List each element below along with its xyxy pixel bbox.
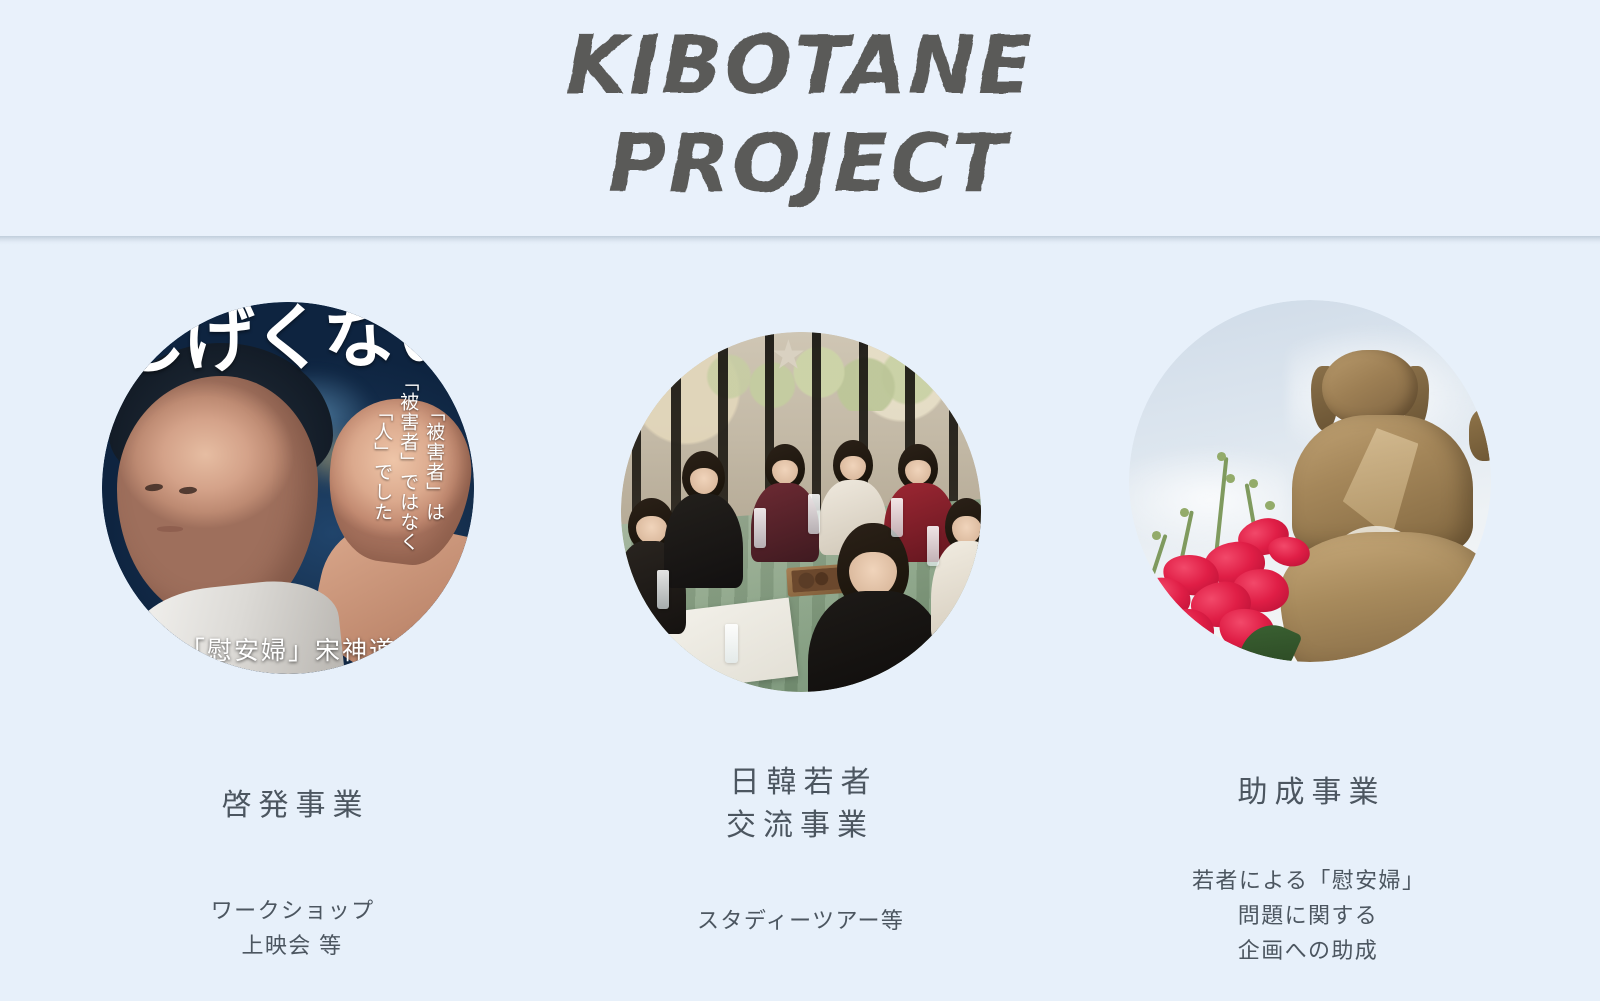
flower-bud	[1249, 479, 1258, 488]
program-cards: しげくない 「被害者」は 「被害者」ではなく 「人」でした 「慰安婦」宋神道 啓…	[0, 236, 1600, 1001]
logo-line-1: KIBOTANE	[566, 19, 1035, 112]
flower-petal	[1266, 534, 1312, 570]
card-subtitle-japan-korea-youth-exchange: スタディーツアー等	[546, 903, 1054, 938]
meeting-artwork	[621, 332, 981, 692]
woman-mouth	[157, 526, 183, 531]
flower-bud	[1265, 501, 1274, 510]
participant-body	[664, 494, 743, 588]
water-bottle	[891, 498, 903, 538]
logo-line-2: PROJECT	[608, 117, 1011, 210]
water-bottle	[927, 526, 939, 566]
water-bottle	[754, 508, 766, 548]
poster-vertical-caption-line: 「被害者」ではなく	[397, 358, 418, 566]
flower-bud	[1226, 474, 1235, 483]
card-title-grants: 助成事業	[1054, 771, 1562, 814]
card-subtitle-grants: 若者による「慰安婦」 問題に関する 企画への助成	[1054, 863, 1562, 968]
card-japan-korea-youth-exchange[interactable]: 日韓若者 交流事業 スタディーツアー等	[546, 236, 1054, 1001]
poster-bottom-caption: 「慰安婦」宋神道	[102, 631, 474, 667]
card-title-japan-korea-youth-exchange: 日韓若者 交流事業	[546, 761, 1054, 847]
statue-head	[1322, 350, 1419, 425]
statue-artwork	[1129, 300, 1491, 662]
card-grants[interactable]: 助成事業 若者による「慰安婦」 問題に関する 企画への助成	[1054, 236, 1562, 1001]
card-title-awareness: 啓発事業	[38, 784, 546, 827]
water-bottle	[725, 624, 737, 664]
statue-of-peace-thumbnail[interactable]	[1129, 300, 1491, 662]
flower-bud	[1152, 531, 1161, 540]
page-root: KIBOTANE PROJECT	[0, 0, 1600, 1001]
card-awareness[interactable]: しげくない 「被害者」は 「被害者」ではなく 「人」でした 「慰安婦」宋神道 啓…	[38, 236, 546, 1001]
water-bottle	[657, 570, 669, 610]
poster-vertical-caption-line: 「被害者」は	[423, 358, 444, 566]
site-header: KIBOTANE PROJECT	[0, 0, 1600, 236]
documentary-film-poster-thumbnail[interactable]: しげくない 「被害者」は 「被害者」ではなく 「人」でした 「慰安婦」宋神道	[102, 302, 474, 674]
card-subtitle-awareness: ワークショップ 上映会 等	[38, 893, 546, 963]
statue-chair-back	[1469, 409, 1491, 461]
flower-bud	[1217, 452, 1226, 461]
water-bottle	[808, 494, 820, 534]
flower-bud	[1180, 508, 1189, 517]
woman-eye-left	[145, 483, 164, 492]
site-logo[interactable]: KIBOTANE PROJECT	[540, 15, 1060, 225]
youth-roundtable-meeting-thumbnail[interactable]	[621, 332, 981, 692]
red-flower-bouquet	[1129, 452, 1353, 662]
poster-artwork: しげくない 「被害者」は 「被害者」ではなく 「人」でした 「慰安婦」宋神道	[102, 302, 474, 674]
poster-vertical-caption-line: 「人」でした	[371, 358, 392, 566]
woman-eye-right	[179, 486, 198, 495]
poster-vertical-caption: 「被害者」は 「被害者」ではなく 「人」でした	[371, 358, 444, 566]
